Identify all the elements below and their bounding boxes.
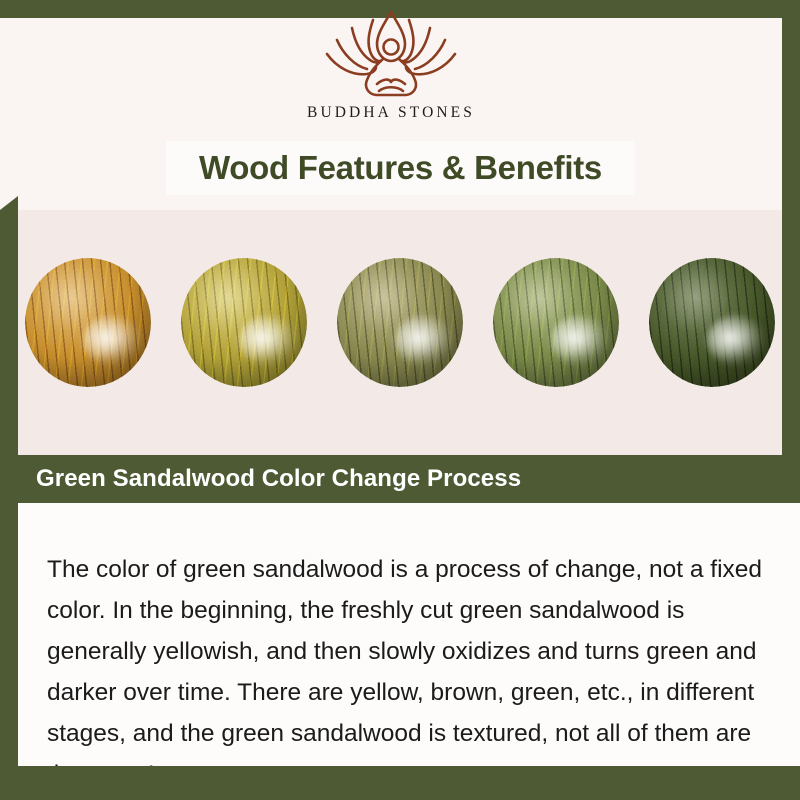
bead-shading (337, 258, 463, 387)
bead-shading (25, 258, 151, 387)
frame-rail-bottom (0, 766, 620, 800)
section-ribbon: Green Sandalwood Color Change Process (18, 455, 584, 503)
bead-stage-3 (337, 258, 463, 387)
brand-logo-block: BUDDHA STONES (0, 6, 782, 122)
bead-shading (181, 258, 307, 387)
frame-rail-left (0, 196, 18, 800)
bead-shading (493, 258, 619, 387)
page-title-box: Wood Features & Benefits (166, 141, 635, 195)
body-copy-panel: The color of green sandalwood is a proce… (18, 503, 800, 766)
bead-stage-5 (649, 258, 775, 387)
bead-stage-1 (25, 258, 151, 387)
bead-gradient-row (18, 255, 782, 390)
section-ribbon-label: Green Sandalwood Color Change Process (36, 465, 521, 493)
poster-root: BUDDHA STONES Wood Features & Benefits (0, 0, 800, 800)
page-title: Wood Features & Benefits (199, 149, 602, 187)
lotus-meditation-icon (315, 6, 467, 100)
bead-stage-2 (181, 258, 307, 387)
bead-stage-4 (493, 258, 619, 387)
brand-name: BUDDHA STONES (0, 104, 782, 122)
body-paragraph: The color of green sandalwood is a proce… (47, 549, 767, 795)
bead-shading (649, 258, 775, 387)
